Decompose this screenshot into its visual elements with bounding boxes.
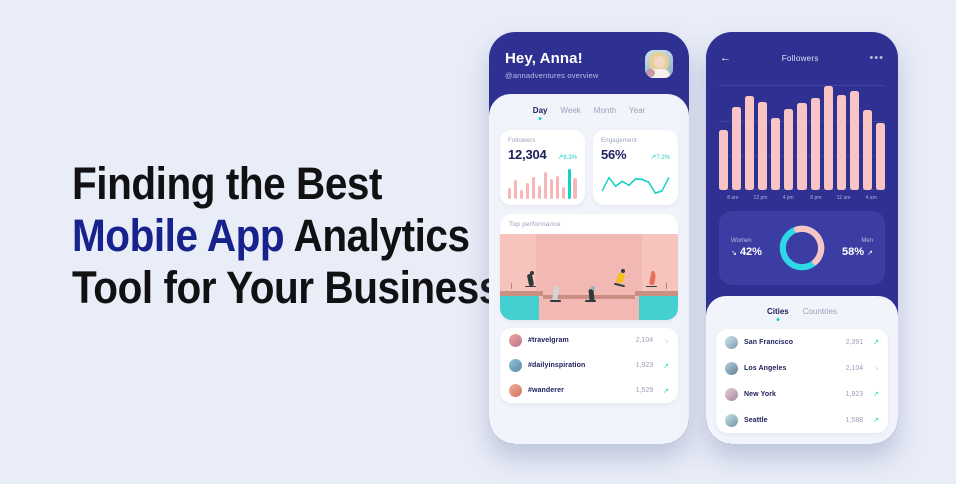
city-count: 2,391	[846, 339, 864, 346]
bar	[797, 103, 806, 190]
hashtag-count: 2,104	[636, 337, 654, 344]
x-axis-tick: 4 am	[857, 195, 885, 201]
gender-split-card[interactable]: Women ↘ 42% Men 58% ↗	[719, 211, 885, 285]
line-series	[602, 178, 668, 194]
followers-value-row: 12,304 ↗8.3%	[508, 147, 577, 162]
city-name: San Francisco	[744, 339, 840, 346]
bar	[824, 86, 833, 190]
bar	[526, 183, 529, 199]
city-thumbnail	[725, 388, 738, 401]
bar	[811, 98, 820, 190]
cities-list: San Francisco 2,391 ↗ Los Angeles 2,104 …	[716, 329, 888, 433]
headline-line-1: Finding the Best	[72, 158, 432, 210]
illustration-post-right	[666, 283, 667, 289]
avatar-face	[654, 56, 665, 68]
list-item[interactable]: #wanderer 1,529 ↗	[500, 378, 678, 403]
trend-down-icon: ↘	[873, 364, 879, 372]
followers-delta: ↗8.3%	[557, 153, 577, 161]
followers-card[interactable]: Followers 12,304 ↗8.3%	[500, 130, 585, 205]
page-title: Finding the Best Mobile App Analytics To…	[72, 158, 472, 314]
list-item[interactable]: Los Angeles 2,104 ↘	[716, 355, 888, 381]
city-name: New York	[744, 391, 840, 398]
list-item[interactable]: #travelgram 2,104 ↘	[500, 328, 678, 353]
men-label: Men	[831, 238, 873, 244]
phone-two-header: ← Followers •••	[706, 32, 898, 64]
bar	[556, 176, 559, 199]
women-value-row: ↘ 42%	[731, 246, 773, 258]
illustration-skater-5	[649, 274, 656, 286]
bar	[876, 123, 885, 190]
gender-donut-chart	[776, 222, 828, 274]
bar	[568, 169, 571, 199]
trend-up-icon: ↗	[663, 362, 669, 370]
women-label: Women	[731, 238, 773, 244]
engagement-line-chart	[601, 169, 670, 199]
illustration-skater-2-head	[555, 286, 559, 290]
bar	[745, 96, 754, 190]
illustration-board-3	[585, 300, 596, 302]
bar-chart-x-axis: 8 am12 pm4 pm8 pm12 am4 am	[719, 195, 885, 201]
engagement-value-row: 56% ↗7.2%	[601, 147, 670, 162]
bar	[850, 91, 859, 190]
illustration-board-2	[550, 300, 561, 302]
followers-page-title: Followers	[782, 54, 819, 63]
tab-cities[interactable]: Cities	[767, 307, 789, 321]
bar	[550, 179, 553, 199]
bar	[532, 177, 535, 199]
bar	[538, 186, 541, 199]
hashtag-avatar	[509, 384, 522, 397]
tab-month[interactable]: Month	[594, 106, 616, 120]
city-name: Los Angeles	[744, 365, 840, 372]
bar-series	[719, 78, 885, 190]
location-tabs: Cities Countries	[716, 307, 888, 321]
bar	[514, 180, 517, 199]
trend-up-icon: ↗	[873, 390, 879, 398]
tab-year[interactable]: Year	[629, 106, 645, 120]
illustration-skater-3-head	[591, 286, 595, 290]
bar	[544, 172, 547, 199]
illustration-skater-1-head	[530, 271, 534, 275]
x-axis-tick: 8 am	[719, 195, 747, 201]
followers-delta-value: 8.3%	[563, 155, 577, 161]
followers-label: Followers	[508, 138, 577, 144]
hashtag-name: #dailyinspiration	[528, 362, 630, 369]
hashtag-avatar	[509, 334, 522, 347]
city-thumbnail	[725, 336, 738, 349]
hashtag-count: 1,923	[636, 362, 654, 369]
bar	[520, 190, 523, 199]
phone-two-content: Cities Countries San Francisco 2,391 ↗ L…	[706, 296, 898, 444]
illustration-board-1	[525, 286, 536, 288]
engagement-value: 56%	[601, 147, 626, 162]
trend-up-icon: ↗	[873, 416, 879, 424]
bar	[784, 109, 793, 190]
tab-week[interactable]: Week	[560, 106, 580, 120]
trend-down-icon: ↘	[663, 337, 669, 345]
illustration-skater-1	[527, 274, 534, 287]
bar	[732, 107, 741, 190]
city-count: 1,923	[846, 391, 864, 398]
city-count: 1,588	[846, 417, 864, 424]
illustration-post-left	[511, 283, 512, 289]
city-thumbnail	[725, 414, 738, 427]
women-value: 42%	[740, 246, 762, 258]
illustration-ledge-left	[500, 291, 543, 296]
illustration-board-5	[646, 286, 657, 288]
engagement-delta: ↗7.2%	[650, 153, 670, 161]
men-value: 58%	[842, 246, 864, 258]
bar	[562, 187, 565, 199]
stat-cards: Followers 12,304 ↗8.3% Engagement 56% ↗7…	[500, 130, 678, 205]
followers-bar-chart	[719, 78, 885, 190]
hashtag-count: 1,529	[636, 387, 654, 394]
more-options-icon[interactable]: •••	[869, 55, 884, 61]
city-name: Seattle	[744, 417, 840, 424]
bar	[573, 178, 576, 199]
trend-up-icon: ↗	[663, 387, 669, 395]
avatar-foliage	[646, 69, 655, 77]
hashtag-name: #wanderer	[528, 387, 630, 394]
x-axis-tick: 12 pm	[747, 195, 775, 201]
phone-mockup-overview: Hey, Anna! @annadventures overview Day W…	[489, 32, 689, 444]
phone-one-header: Hey, Anna! @annadventures overview	[489, 32, 689, 94]
followers-mini-bar-chart	[508, 169, 577, 199]
engagement-card[interactable]: Engagement 56% ↗7.2%	[593, 130, 678, 205]
followers-value: 12,304	[508, 147, 547, 162]
men-stat: Men 58% ↗	[831, 238, 875, 258]
period-tabs: Day Week Month Year	[500, 106, 678, 120]
tab-day[interactable]: Day	[533, 106, 548, 120]
bar	[837, 95, 846, 190]
top-performance-card[interactable]: Top performance	[500, 214, 678, 320]
x-axis-tick: 12 am	[830, 195, 858, 201]
headline-line-2: Mobile App Analytics	[72, 210, 432, 262]
bar	[863, 110, 872, 190]
headline-line-2-rest: Analytics	[284, 210, 469, 261]
back-arrow-icon[interactable]: ←	[720, 52, 731, 64]
engagement-delta-value: 7.2%	[656, 155, 670, 161]
bar	[771, 118, 780, 190]
phone-mockup-followers: ← Followers ••• 8 am12 pm4 pm8 pm12 am4 …	[706, 32, 898, 444]
list-item[interactable]: #dailyinspiration 1,923 ↗	[500, 353, 678, 378]
city-thumbnail	[725, 362, 738, 375]
x-axis-tick: 4 pm	[774, 195, 802, 201]
list-item[interactable]: Seattle 1,588 ↗	[716, 407, 888, 433]
engagement-label: Engagement	[601, 138, 670, 144]
list-item[interactable]: New York 1,923 ↗	[716, 381, 888, 407]
top-performance-image	[500, 234, 678, 320]
headline-line-3: Tool for Your Business	[72, 262, 432, 314]
trend-down-icon: ↘	[731, 250, 737, 257]
hashtag-name: #travelgram	[528, 337, 630, 344]
tab-countries[interactable]: Countries	[803, 307, 837, 321]
bar	[758, 102, 767, 190]
illustration-ledge-right	[635, 291, 678, 296]
phone-one-content: Day Week Month Year Followers 12,304 ↗8.…	[489, 94, 689, 444]
x-axis-tick: 8 pm	[802, 195, 830, 201]
city-count: 2,104	[846, 365, 864, 372]
hashtag-list: #travelgram 2,104 ↘ #dailyinspiration 1,…	[500, 328, 678, 403]
headline-accent: Mobile App	[72, 210, 284, 261]
bar	[719, 130, 728, 190]
bar	[508, 188, 511, 199]
avatar[interactable]	[645, 50, 673, 78]
men-value-row: 58% ↗	[831, 246, 873, 258]
women-stat: Women ↘ 42%	[729, 238, 773, 258]
list-item[interactable]: San Francisco 2,391 ↗	[716, 329, 888, 355]
top-performance-label: Top performance	[500, 214, 678, 234]
trend-up-icon: ↗	[867, 250, 873, 257]
trend-up-icon: ↗	[873, 338, 879, 346]
hashtag-avatar	[509, 359, 522, 372]
